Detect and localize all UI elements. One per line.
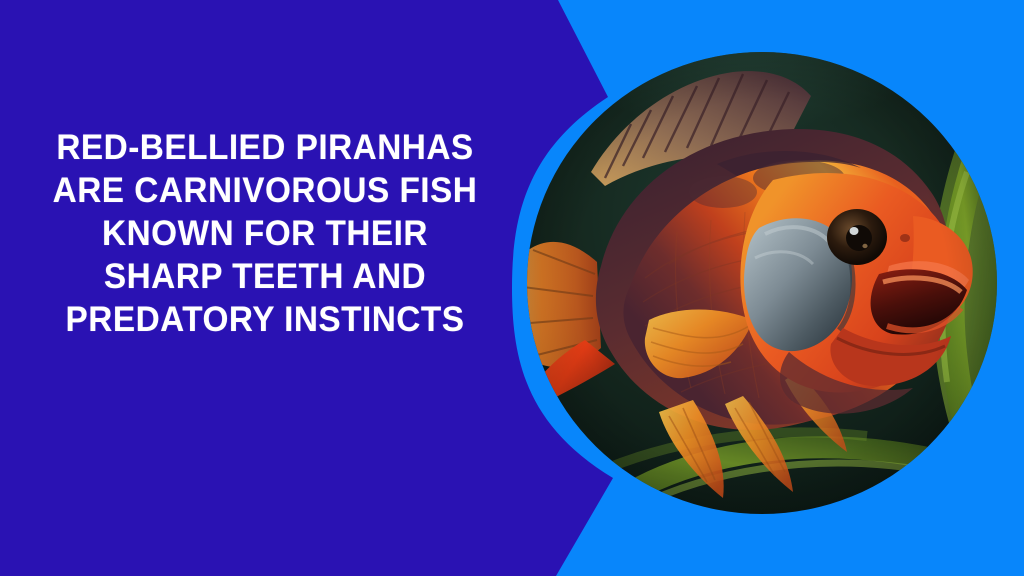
fish-photo-illustration bbox=[527, 52, 997, 514]
fish-photo-circle bbox=[527, 52, 997, 514]
page-title: RED-BELLIED PIRANHAS ARE CARNIVOROUS FIS… bbox=[42, 126, 488, 341]
photo-vignette bbox=[527, 52, 997, 514]
poster-canvas: RED-BELLIED PIRANHAS ARE CARNIVOROUS FIS… bbox=[0, 0, 1024, 576]
